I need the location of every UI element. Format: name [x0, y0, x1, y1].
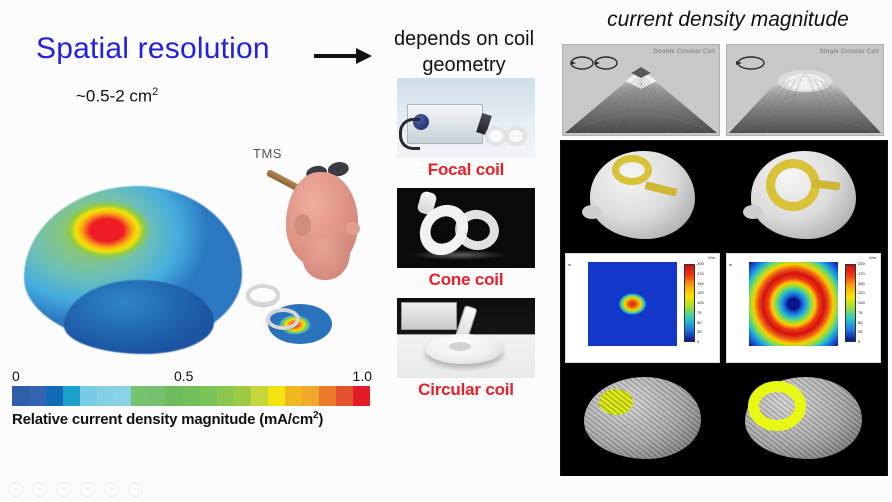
colorbar-segment-3 [63, 386, 80, 406]
colorbar-segment-6 [114, 386, 131, 406]
colorbar-segment-8 [148, 386, 165, 406]
field-plot-area-figure8 [588, 262, 677, 346]
colorbar-segment-2 [46, 386, 63, 406]
colorbar-segment-4 [80, 386, 97, 406]
field-colorbar [684, 264, 695, 342]
colorbar-segment-9 [165, 386, 182, 406]
activation-ring [748, 381, 806, 431]
field-plot-area-circular [749, 262, 838, 346]
resolution-number: ~0.5-2 cm [76, 87, 152, 106]
colorbar-tick-mid: 0.5 [174, 368, 193, 384]
colorbar-segment-12 [217, 386, 234, 406]
colorbar-segment-11 [200, 386, 217, 406]
colorbar-segment-13 [234, 386, 251, 406]
field-colorbar-tick: 50 [858, 321, 878, 325]
colorbar-segment-16 [285, 386, 302, 406]
slide-canvas: Spatial resolution depends on coil geome… [0, 0, 892, 502]
stimulator-panel [401, 302, 457, 330]
coil-label-focal: Focal coil [392, 160, 540, 180]
coil-label-circular: Circular coil [392, 380, 540, 400]
coil-gallery: Focal coil Cone coil Circular coil [392, 78, 540, 408]
surface-plot-single-coil: Single Circular Coil [726, 44, 884, 136]
coil-card-circular[interactable]: Circular coil [392, 298, 540, 400]
player-control-bar[interactable]: ◂▸✐⚙⚲⋯ [0, 476, 892, 502]
field-colorbar-tick: 25 [697, 330, 717, 334]
field-colorbar-tick: 170 [697, 272, 717, 276]
coil-card-cone[interactable]: Cone coil [392, 188, 540, 290]
focal-coil-photo [397, 78, 535, 158]
play-button[interactable]: ▸ [32, 482, 47, 497]
more-button[interactable]: ⋯ [128, 482, 143, 497]
head-ear [294, 214, 311, 236]
colorbar-legend: 0 0.5 1.0 Relative current density magni… [12, 368, 372, 428]
colorbar-segment-10 [182, 386, 199, 406]
field-colorbar [845, 264, 856, 342]
head-model-circular [726, 145, 881, 249]
cone-coil-photo [397, 188, 535, 268]
field-colorbar-tick: 100 [697, 301, 717, 305]
surface-mesh-double [563, 59, 719, 135]
field-colorbar-tick: 120 [697, 291, 717, 295]
brain-ring-activation [726, 369, 881, 469]
colorbar-segment-14 [251, 386, 268, 406]
colorbar-segment-0 [12, 386, 29, 406]
colorbar-segment-18 [319, 386, 336, 406]
search-button[interactable]: ⚲ [104, 482, 119, 497]
volume-button[interactable]: ◂ [8, 482, 23, 497]
right-panel-title: current density magnitude [568, 8, 888, 32]
right-figure-panel: current density magnitude Double Circula… [556, 0, 892, 492]
field-colorbar-tick: 200 [858, 262, 878, 266]
settings-button[interactable]: ⚙ [80, 482, 95, 497]
field-colorbar-tick: 150 [858, 282, 878, 286]
field-unit-label: V/m [869, 255, 876, 260]
coil-ring-upper [246, 284, 280, 306]
coil-ring-lower [266, 308, 300, 330]
field-colorbar-ticks: 2001701501201007550250 [697, 262, 717, 344]
field-pattern-two-lobe [588, 262, 677, 346]
page-title: Spatial resolution [36, 32, 270, 66]
colorbar-segment-17 [302, 386, 319, 406]
brain-activation-row [565, 369, 881, 469]
figure-eight-coil-photo [485, 126, 529, 146]
field-axis-corner: m [568, 262, 571, 267]
field-unit-label: V/m [708, 255, 715, 260]
coil-label-cone: Cone coil [392, 270, 540, 290]
colorbar-tick-min: 0 [12, 368, 20, 384]
colorbar-caption: Relative current density magnitude (mA/c… [12, 410, 372, 428]
colorbar-segment-19 [336, 386, 353, 406]
stimulator-cable [399, 118, 420, 150]
cone-coil-shadow [411, 250, 507, 260]
circular-coil-photo [397, 298, 535, 378]
colorbar-segment-15 [268, 386, 285, 406]
colorbar-segment-20 [353, 386, 370, 406]
field-axis-corner: m [729, 262, 732, 267]
head-jaw [302, 234, 350, 280]
head-model-figure8 [565, 145, 720, 249]
field-colorbar-tick: 50 [697, 321, 717, 325]
activation-focal-spot [599, 389, 633, 415]
circular-coil-overlay [766, 159, 822, 215]
arrow-right-icon [312, 46, 374, 66]
colorbar-gradient [12, 386, 370, 406]
field-map-figure8: V/m 2001701501201007550250 m [565, 253, 720, 363]
colorbar-segment-1 [29, 386, 46, 406]
colorbar-tick-max: 1.0 [353, 368, 372, 384]
tms-label: TMS [253, 146, 282, 161]
circular-coil-center-hole [449, 342, 471, 351]
surface-plot-double-coil: Double Circular Coil [562, 44, 720, 136]
field-colorbar-tick: 100 [858, 301, 878, 305]
field-colorbar-ticks: 2001701501201007550250 [858, 262, 878, 344]
cortex-surface [584, 377, 702, 459]
consequence-text: depends on coil geometry [384, 26, 544, 79]
field-colorbar-tick: 75 [697, 311, 717, 315]
coil-card-focal[interactable]: Focal coil [392, 78, 540, 180]
surface-label-double: Double Circular Coil [653, 49, 715, 56]
field-colorbar-tick: 0 [697, 340, 717, 344]
figure-eight-coil-overlay [612, 155, 658, 215]
field-pattern-ring [749, 262, 838, 346]
field-colorbar-tick: 120 [858, 291, 878, 295]
colorbar-ticks: 0 0.5 1.0 [12, 368, 372, 386]
surface-label-single: Single Circular Coil [820, 49, 879, 56]
brain-current-density-render [18, 168, 248, 358]
field-colorbar-tick: 200 [697, 262, 717, 266]
colorbar-caption-close: ) [318, 411, 323, 428]
head-nose [346, 222, 360, 235]
surface-mesh-single [727, 59, 883, 135]
field-colorbar-tick: 170 [858, 272, 878, 276]
field-colorbar-tick: 75 [858, 311, 878, 315]
colorbar-segment-5 [97, 386, 114, 406]
simulation-figure-block: V/m 2001701501201007550250 m V/m 2001701… [560, 140, 888, 478]
resolution-exponent: 2 [152, 86, 158, 98]
colorbar-caption-text: Relative current density magnitude (mA/c… [12, 411, 313, 428]
head-model-row [565, 145, 881, 249]
field-map-circular: V/m 2001701501201007550250 m [726, 253, 881, 363]
brain-focal-activation [565, 369, 720, 469]
field-colorbar-tick: 0 [858, 340, 878, 344]
mini-coil-field-illustration [244, 282, 334, 352]
field-colorbar-tick: 150 [697, 282, 717, 286]
surface-plot-row: Double Circular Coil [562, 44, 884, 136]
pencil-button[interactable]: ✐ [56, 482, 71, 497]
field-colorbar-tick: 25 [858, 330, 878, 334]
resolution-value: ~0.5-2 cm2 [76, 86, 158, 107]
colorbar-segment-7 [131, 386, 148, 406]
field-map-row: V/m 2001701501201007550250 m V/m 2001701… [565, 253, 881, 363]
